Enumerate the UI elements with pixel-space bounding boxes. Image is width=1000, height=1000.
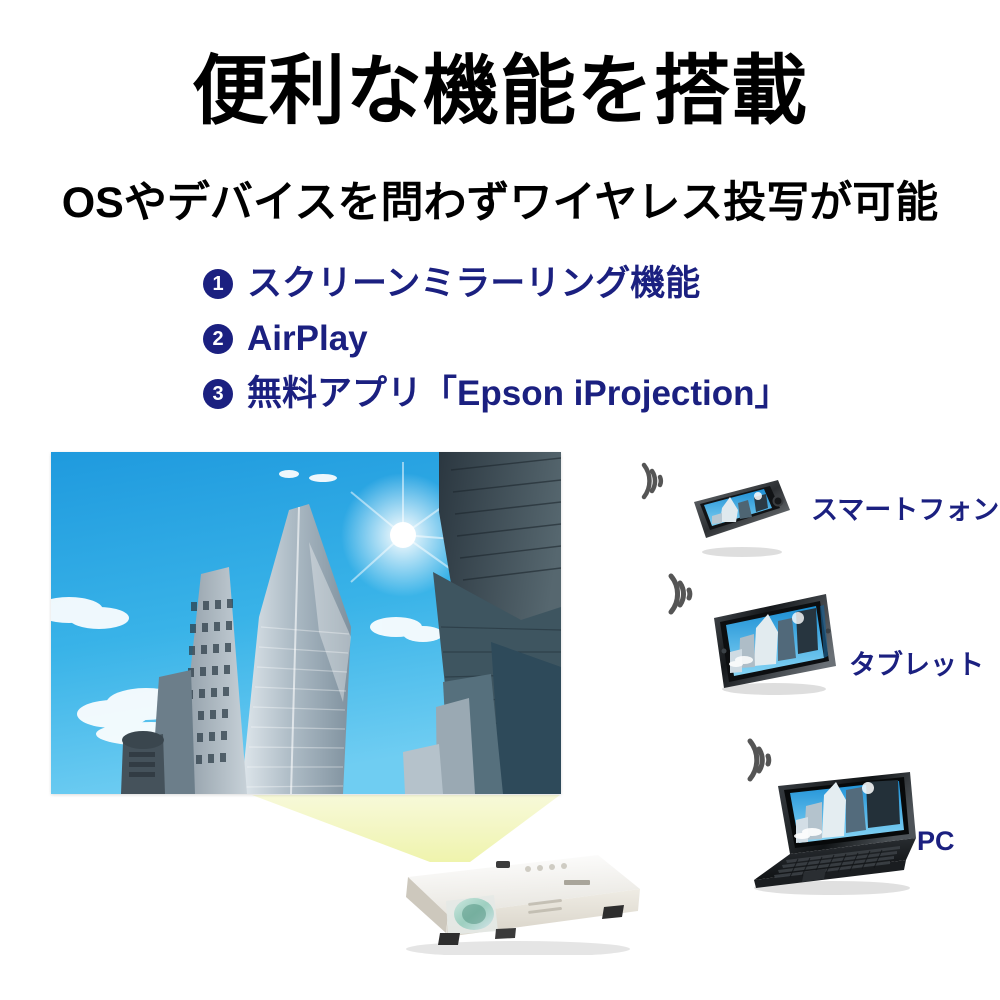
smartphone-label: スマートフォン [811, 495, 999, 525]
tablet-device [700, 588, 846, 698]
feature-label-2: AirPlay [247, 319, 368, 359]
feature-number-badge-3: 3 [203, 379, 233, 409]
laptop-device [740, 760, 922, 896]
pc-label: PC [917, 826, 955, 856]
projection-screen [51, 452, 561, 794]
feature-number-badge-1: 1 [203, 269, 233, 299]
projector [378, 845, 644, 955]
feature-item-1: 1 スクリーンミラーリング機能 [203, 258, 843, 309]
feature-list: 1 スクリーンミラーリング機能 2 AirPlay 3 無料アプリ「Epson … [203, 258, 843, 423]
feature-item-3: 3 無料アプリ「Epson iProjection」 [203, 368, 843, 419]
page-subtitle: OSやデバイスを問わずワイヤレス投写が可能 [0, 177, 1000, 229]
wifi-arcs-icon [634, 459, 678, 503]
feature-item-2: 2 AirPlay [203, 313, 843, 364]
smartphone-device [686, 472, 796, 560]
feature-label-1: スクリーンミラーリング機能 [247, 264, 700, 304]
feature-number-badge-2: 2 [203, 324, 233, 354]
page-title: 便利な機能を搭載 [0, 48, 1000, 136]
tablet-label: タブレット [849, 650, 984, 680]
infographic-page: 便利な機能を搭載 OSやデバイスを問わずワイヤレス投写が可能 1 スクリーンミラ… [0, 0, 1000, 1000]
feature-label-3: 無料アプリ「Epson iProjection」 [247, 374, 790, 414]
